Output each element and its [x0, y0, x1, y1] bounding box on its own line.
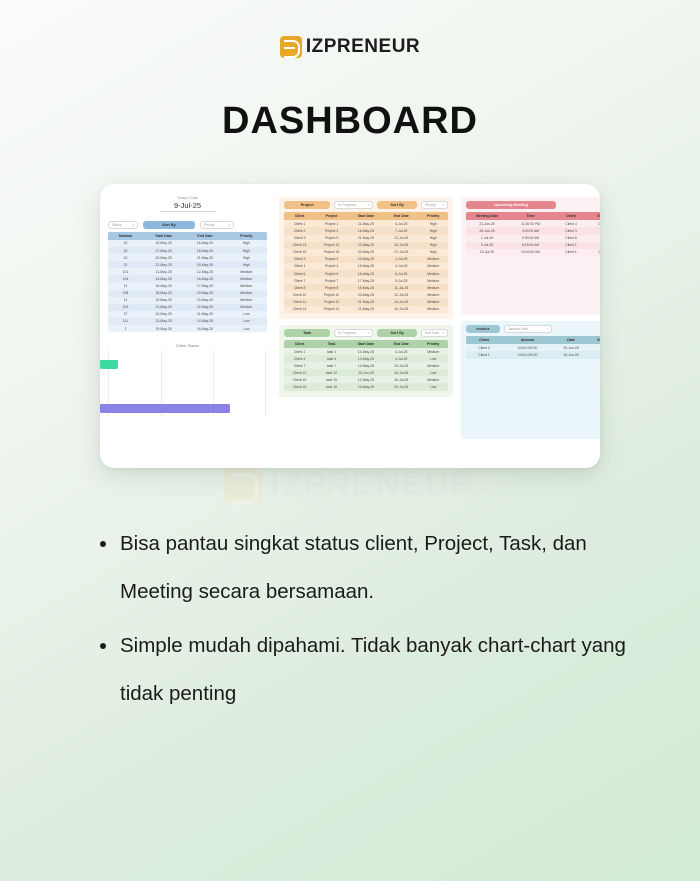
table-cell: High	[226, 261, 267, 268]
table-cell: 10-May-25	[143, 311, 184, 318]
table-cell: 19-May-25	[143, 297, 184, 304]
table-cell: Project 14	[315, 306, 348, 313]
table-cell: Medium	[226, 297, 267, 304]
table-cell: Project 15	[315, 249, 348, 256]
table-cell: 3,000,000.00	[502, 344, 553, 351]
table-cell: Low	[226, 311, 267, 318]
table-cell: 18-May-25	[143, 290, 184, 297]
table-cell: 22-May-25	[348, 242, 384, 249]
subtask-table-wrap: SubtaskStart DateEnd DatePriority 1515-M…	[108, 232, 267, 333]
task-table: ClientTaskStart DateEnd DatePriority Cli…	[284, 340, 448, 391]
column-header: Meeting Date	[466, 212, 508, 220]
column-header: Time	[508, 212, 553, 220]
table-row: Client 12task 1220-Jun-2516-Jul-25Low	[284, 369, 448, 376]
watermark-logo-icon	[224, 466, 262, 504]
dashboard-preview: Today's Date 9-Jul-25 Status ▾ Sort By P…	[100, 184, 600, 468]
table-cell: 11-May-25	[143, 268, 184, 275]
table-cell: 24-Jul-25	[466, 249, 508, 256]
panel-meeting-invoice: Upcoming Meeting Meeting DateTimeClientS…	[457, 194, 600, 468]
chevron-down-icon: ▾	[546, 325, 548, 333]
table-cell: Medium	[418, 277, 448, 284]
meeting-filter-row: Upcoming Meeting	[466, 201, 595, 209]
table-cell: 26-Jun-25	[466, 227, 508, 234]
invoice-table-wrap: ClientAmountDateStatus Client 23,000,000…	[466, 336, 600, 359]
table-row: Client 7task 714-May-2510-Jul-25Medium	[284, 362, 448, 369]
table-cell: 15-May-25	[143, 325, 184, 332]
task-sort-field-dropdown[interactable]: End Date ▾	[421, 329, 448, 337]
table-cell: 104	[108, 275, 143, 282]
invoice-table: ClientAmountDateStatus Client 23,000,000…	[466, 336, 600, 359]
table-cell: Client 4	[284, 355, 315, 362]
column-header: Client	[466, 336, 502, 344]
table-cell: Medium	[418, 284, 448, 291]
table-cell: Client 2	[466, 344, 502, 351]
table-header-row: ClientAmountDateStatus	[466, 336, 600, 344]
table-cell: 22-May-25	[143, 261, 184, 268]
project-sort-button[interactable]: Sort By	[377, 201, 417, 209]
table-row: Client 1task 114-May-254-Jul-25Medium	[284, 348, 448, 355]
task-table-body: Client 1task 114-May-254-Jul-25MediumCli…	[284, 348, 448, 391]
table-cell: 20-Jun-25	[348, 369, 384, 376]
table-cell: 111	[108, 318, 143, 325]
table-cell: 21-May-25	[184, 254, 225, 261]
table-cell: Client 10	[284, 291, 315, 298]
table-cell: Client 4	[284, 263, 315, 270]
table-cell: 19-May-25	[348, 284, 384, 291]
table-cell	[589, 227, 600, 234]
table-cell: Client 15	[284, 249, 315, 256]
table-cell	[589, 344, 600, 351]
table-row: 2020-May-2521-May-25High	[108, 254, 267, 261]
meeting-section: Upcoming Meeting Meeting DateTimeClientS…	[461, 197, 600, 315]
table-cell: task 1	[315, 348, 348, 355]
invoice-section: Invoice January Paid ▾ ClientAmountDateS…	[461, 321, 600, 439]
table-row: Client 23,000,000.0020-Jun-25	[466, 344, 600, 351]
subtask-table-body: 1515-May-2516-May-25High1817-May-2518-Ma…	[108, 240, 267, 332]
table-row: Client 6Project 616-May-256-Jul-25Medium	[284, 270, 448, 277]
table-cell: Low	[226, 318, 267, 325]
table-cell: Done	[589, 249, 600, 256]
table-cell: 22-May-25	[184, 304, 225, 311]
table-cell: 17-May-25	[184, 282, 225, 289]
table-cell: 4-Jul-25	[384, 220, 418, 227]
invoice-table-header: ClientAmountDateStatus	[466, 336, 600, 344]
table-cell: 16-Jul-25	[384, 242, 418, 249]
table-row: Client 1Project 111-May-254-Jul-25High	[284, 220, 448, 227]
task-filter-row: Task In Progress ▾ Sort By End Date ▾	[284, 329, 448, 337]
list-item: Bisa pantau singkat status client, Proje…	[92, 520, 632, 616]
table-row: Client 16task 1614-May-2520-Jul-25Low	[284, 383, 448, 390]
table-row: 10421-May-2522-May-25Medium	[108, 304, 267, 311]
table-row: Client 15Project 1520-May-2517-Jul-25Hig…	[284, 249, 448, 256]
table-cell: 16-May-25	[184, 325, 225, 332]
column-header: End Date	[384, 340, 418, 348]
table-cell: High	[418, 242, 448, 249]
table-cell: Client 12	[284, 369, 315, 376]
table-cell: High	[418, 227, 448, 234]
table-cell: 4-Jul-25	[384, 263, 418, 270]
table-cell: 2,000,000.00	[502, 351, 553, 358]
table-row: Client 11Project 1121-May-2514-Jul-25Med…	[284, 298, 448, 305]
column-header: Status	[589, 336, 600, 344]
table-header-row: Meeting DateTimeClientStatus	[466, 212, 600, 220]
subtask-table-header: SubtaskStart DateEnd DatePriority	[108, 232, 267, 240]
table-cell: 6-Jul-25	[384, 270, 418, 277]
table-row: Client 4task 410-May-254-Jul-25Low	[284, 355, 448, 362]
table-cell: task 15	[315, 376, 348, 383]
table-cell: 21-May-25	[348, 298, 384, 305]
table-cell: 16-Jul-25	[384, 376, 418, 383]
chevron-down-icon: ▾	[368, 201, 370, 209]
table-cell: 16-Jul-25	[384, 306, 418, 313]
sort-by-button[interactable]: Sort By	[143, 221, 195, 229]
table-row: 21-Jun-2511:30:00 PMClient 4Done	[466, 220, 600, 227]
table-header-row: ClientProjectStart DateEnd DatePriority	[284, 212, 448, 220]
table-row: 2222-May-2524-May-25High	[108, 261, 267, 268]
table-row: Client 3Project 314-May-251-Jul-25Medium	[284, 256, 448, 263]
table-cell: 20	[108, 254, 143, 261]
column-header: Subtask	[108, 232, 143, 240]
meeting-table: Meeting DateTimeClientStatus 21-Jun-2511…	[466, 212, 600, 256]
table-cell: Project 9	[315, 235, 348, 242]
table-cell: 13-May-25	[143, 318, 184, 325]
invoice-filter-row: Invoice January Paid ▾	[466, 325, 595, 333]
table-row: 9-Jul-258:15:00 AMClient 1	[466, 242, 600, 249]
table-row: 26-Jun-254:00:00 AMClient 3	[466, 227, 600, 234]
task-status-dropdown[interactable]: In Progress ▾	[334, 329, 373, 337]
table-row: Client 9Project 921-May-2512-Jul-25High	[284, 235, 448, 242]
table-cell: Project 10	[315, 291, 348, 298]
table-row: Client 10Project 1020-May-2512-Jul-25Med…	[284, 291, 448, 298]
todays-date-label: Today's Date	[160, 196, 216, 200]
table-cell: 21-May-25	[348, 235, 384, 242]
table-cell: 1-Jul-25	[466, 235, 508, 242]
chevron-down-icon: ▾	[132, 221, 134, 229]
table-cell: 27	[108, 311, 143, 318]
table-cell: task 4	[315, 355, 348, 362]
table-cell: 14-Jul-25	[384, 298, 418, 305]
column-header: Client	[284, 340, 315, 348]
table-cell: Medium	[418, 306, 448, 313]
table-cell: 17-May-25	[348, 277, 384, 284]
column-header: Amount	[502, 336, 553, 344]
table-cell: Client 9	[284, 235, 315, 242]
column-header: Task	[315, 340, 348, 348]
table-cell: Project 13	[315, 242, 348, 249]
table-cell	[589, 235, 600, 242]
table-row: Client 13Project 1322-May-2516-Jul-25Hig…	[284, 242, 448, 249]
table-cell: 14-May-25	[184, 318, 225, 325]
watermark: IZPRENEUR	[0, 465, 700, 504]
table-cell: Client 15	[284, 376, 315, 383]
table-cell: Client 7	[284, 362, 315, 369]
column-header: Date	[553, 336, 589, 344]
panel-project-task: Project In Progress ▾ Sort By Priority ▾…	[275, 194, 457, 468]
table-cell: 4-Jul-25	[384, 348, 418, 355]
table-cell: Medium	[226, 282, 267, 289]
task-table-wrap: ClientTaskStart DateEnd DatePriority Cli…	[284, 340, 448, 391]
table-cell: task 12	[315, 369, 348, 376]
table-row: Client 12,000,000.0018-Jun-25	[466, 351, 600, 358]
column-header: Client	[553, 212, 589, 220]
task-sort-button[interactable]: Sort By	[377, 329, 417, 337]
table-cell: Client 14	[284, 306, 315, 313]
table-cell: 15	[108, 240, 143, 247]
invoice-table-body: Client 23,000,000.0020-Jun-25Client 12,0…	[466, 344, 600, 358]
table-cell: Medium	[418, 263, 448, 270]
table-cell: 10:00:00 AM	[508, 249, 553, 256]
table-cell: 20-May-25	[348, 291, 384, 298]
table-cell: 14-May-25	[143, 275, 184, 282]
upcoming-meeting-chip[interactable]: Upcoming Meeting	[466, 201, 556, 209]
todays-date-value: 9-Jul-25	[160, 201, 216, 210]
table-cell: 16-May-25	[184, 275, 225, 282]
table-cell: Low	[418, 369, 448, 376]
table-cell: 12-May-25	[348, 376, 384, 383]
table-cell: 16-Jul-25	[384, 369, 418, 376]
table-cell: 11-May-25	[184, 311, 225, 318]
table-row: 24-Jul-2510:00:00 AMClient 1Done	[466, 249, 600, 256]
meeting-table-wrap: Meeting DateTimeClientStatus 21-Jun-2511…	[466, 212, 600, 256]
table-cell: Medium	[418, 376, 448, 383]
invoice-chip[interactable]: Invoice	[466, 325, 500, 333]
chevron-down-icon: ▾	[368, 329, 370, 337]
table-row: 1119-May-2520-May-25Medium	[108, 297, 267, 304]
table-cell: task 7	[315, 362, 348, 369]
table-cell: Medium	[418, 298, 448, 305]
table-cell: Project 4	[315, 263, 348, 270]
table-cell: 9-Jul-25	[466, 242, 508, 249]
table-cell: Low	[226, 325, 267, 332]
status-dropdown[interactable]: Status ▾	[108, 221, 138, 229]
table-cell: 19-May-25	[184, 290, 225, 297]
table-cell: Client 7	[284, 277, 315, 284]
task-chip[interactable]: Task	[284, 329, 330, 337]
table-cell: Client 11	[284, 298, 315, 305]
project-table-body: Client 1Project 111-May-254-Jul-25HighCl…	[284, 220, 448, 312]
table-cell: Client 2	[284, 227, 315, 234]
table-cell: 21-Jun-25	[466, 220, 508, 227]
table-cell: 14-May-25	[348, 383, 384, 390]
table-cell: 18-Jun-25	[553, 351, 589, 358]
table-row: 10111-May-2512-May-25Medium	[108, 268, 267, 275]
table-row: 215-May-2516-May-25Low	[108, 325, 267, 332]
table-cell: 14-May-25	[348, 362, 384, 369]
table-cell: 101	[108, 268, 143, 275]
table-cell: Medium	[226, 304, 267, 311]
table-cell: Medium	[418, 291, 448, 298]
table-row: Client 8Project 819-May-2511-Jul-25Mediu…	[284, 284, 448, 291]
column-header: Start Date	[143, 232, 184, 240]
table-cell: 10-Jul-25	[384, 362, 418, 369]
column-header: Start Date	[348, 340, 384, 348]
table-cell: Low	[418, 355, 448, 362]
column-header: Priority	[226, 232, 267, 240]
table-cell: 14-May-25	[348, 256, 384, 263]
page-title: DASHBOARD	[0, 100, 700, 143]
table-cell: 9-Jul-25	[384, 277, 418, 284]
column-header: End Date	[184, 232, 225, 240]
table-cell: 16-May-25	[184, 240, 225, 247]
project-section: Project In Progress ▾ Sort By Priority ▾…	[279, 197, 453, 319]
table-cell: 8:15:00 AM	[508, 242, 553, 249]
table-cell: 18	[108, 247, 143, 254]
table-row: 10818-May-2519-May-25Medium	[108, 290, 267, 297]
table-cell: Client 3	[284, 256, 315, 263]
table-cell: 20-Jun-25	[553, 344, 589, 351]
table-cell: Done	[589, 220, 600, 227]
meeting-table-header: Meeting DateTimeClientStatus	[466, 212, 600, 220]
project-table: ClientProjectStart DateEnd DatePriority …	[284, 212, 448, 313]
table-cell: Low	[418, 383, 448, 390]
table-cell: 12-Jul-25	[384, 235, 418, 242]
table-cell: 20-Jul-25	[384, 383, 418, 390]
table-cell: High	[418, 249, 448, 256]
table-cell: Client 8	[284, 284, 315, 291]
table-row: Client 14Project 1421-May-2516-Jul-25Med…	[284, 306, 448, 313]
table-cell: High	[226, 254, 267, 261]
table-cell: High	[226, 240, 267, 247]
table-row: 10414-May-2516-May-25Medium	[108, 275, 267, 282]
panel-subtask: Today's Date 9-Jul-25 Status ▾ Sort By P…	[100, 194, 275, 468]
b-logo-icon	[280, 36, 302, 58]
chevron-down-icon: ▾	[442, 329, 444, 337]
table-cell: 20-May-25	[143, 254, 184, 261]
dashboard-card: Today's Date 9-Jul-25 Status ▾ Sort By P…	[100, 184, 600, 468]
table-cell: 7-Jul-25	[384, 227, 418, 234]
table-cell: 4-Jul-25	[384, 355, 418, 362]
meeting-table-body: 21-Jun-2511:30:00 PMClient 4Done26-Jun-2…	[466, 220, 600, 255]
table-cell: 11:30:00 PM	[508, 220, 553, 227]
invoice-filter-dropdown[interactable]: January Paid ▾	[504, 325, 552, 333]
table-cell: 16-May-25	[143, 282, 184, 289]
table-cell	[589, 242, 600, 249]
project-table-header: ClientProjectStart DateEnd DatePriority	[284, 212, 448, 220]
table-cell: 11	[108, 297, 143, 304]
table-cell: Project 2	[315, 227, 348, 234]
table-cell: 11	[108, 282, 143, 289]
table-header-row: ClientTaskStart DateEnd DatePriority	[284, 340, 448, 348]
table-row: 1116-May-2517-May-25Medium	[108, 282, 267, 289]
table-cell: Client 6	[553, 235, 589, 242]
table-cell: Project 1	[315, 220, 348, 227]
table-cell: 21-May-25	[143, 304, 184, 311]
list-item: Simple mudah dipahami. Tidak banyak char…	[92, 622, 632, 718]
table-cell: Medium	[418, 362, 448, 369]
priority-dropdown[interactable]: Priority ▾	[200, 221, 234, 229]
table-cell: High	[418, 220, 448, 227]
subtask-table: SubtaskStart DateEnd DatePriority 1515-M…	[108, 232, 267, 333]
project-status-dropdown[interactable]: In Progress ▾	[334, 201, 373, 209]
table-cell: Project 6	[315, 270, 348, 277]
table-cell: 12-May-25	[184, 268, 225, 275]
table-cell: 22	[108, 261, 143, 268]
table-cell: Project 3	[315, 256, 348, 263]
table-cell: Client 1	[466, 351, 502, 358]
task-section: Task In Progress ▾ Sort By End Date ▾ Cl…	[279, 325, 453, 397]
column-header: Client	[284, 212, 315, 220]
chevron-down-icon: ▾	[228, 221, 230, 229]
table-cell: Medium	[226, 275, 267, 282]
column-header: Status	[589, 212, 600, 220]
table-row: 11113-May-2514-May-25Low	[108, 318, 267, 325]
table-row: Client 15task 1512-May-2516-Jul-25Medium	[284, 376, 448, 383]
table-cell: 20-May-25	[184, 297, 225, 304]
table-cell: 11-Jul-25	[384, 284, 418, 291]
table-cell: 18-May-25	[184, 247, 225, 254]
table-cell: 17-May-25	[143, 247, 184, 254]
subtask-filter-row: Status ▾ Sort By Priority ▾	[108, 221, 267, 229]
table-cell: Client 16	[284, 383, 315, 390]
table-row: Client 2Project 216-May-257-Jul-25High	[284, 227, 448, 234]
project-sort-field-dropdown[interactable]: Priority ▾	[421, 201, 448, 209]
table-cell: 104	[108, 304, 143, 311]
table-cell: 20-May-25	[348, 249, 384, 256]
column-header: Priority	[418, 212, 448, 220]
table-cell: Client 13	[284, 242, 315, 249]
brand-name: IZPRENEUR	[306, 36, 420, 58]
table-cell: 21-May-25	[348, 306, 384, 313]
table-row: 2710-May-2511-May-25Low	[108, 311, 267, 318]
chart-bar-active	[100, 360, 118, 369]
table-cell: Medium	[226, 290, 267, 297]
table-cell: 17-Jul-25	[384, 249, 418, 256]
table-cell: 11-May-25	[348, 220, 384, 227]
client-status-chart	[108, 350, 267, 416]
column-header: Project	[315, 212, 348, 220]
task-table-header: ClientTaskStart DateEnd DatePriority	[284, 340, 448, 348]
table-cell: Project 11	[315, 298, 348, 305]
table-cell: 108	[108, 290, 143, 297]
table-cell: Client 1	[284, 220, 315, 227]
table-header-row: SubtaskStart DateEnd DatePriority	[108, 232, 267, 240]
table-cell: task 16	[315, 383, 348, 390]
client-status-chart-title: Client Status	[108, 344, 267, 348]
project-chip[interactable]: Project	[284, 201, 330, 209]
table-cell: 12-Jul-25	[384, 291, 418, 298]
table-cell	[589, 351, 600, 358]
table-cell: 15-May-25	[348, 263, 384, 270]
column-header: Priority	[418, 340, 448, 348]
bullet-list: Bisa pantau singkat status client, Proje…	[92, 520, 632, 718]
table-cell: Client 6	[284, 270, 315, 277]
project-table-wrap: ClientProjectStart DateEnd DatePriority …	[284, 212, 448, 313]
table-cell: 14-May-25	[348, 348, 384, 355]
table-cell: 24-May-25	[184, 261, 225, 268]
table-cell: High	[226, 247, 267, 254]
watermark-text: IZPRENEUR	[270, 465, 475, 504]
column-header: End Date	[384, 212, 418, 220]
table-cell: 1-Jul-25	[384, 256, 418, 263]
table-cell: Project 8	[315, 284, 348, 291]
table-cell: 4:00:00 AM	[508, 227, 553, 234]
table-row: Client 4Project 415-May-254-Jul-25Medium	[284, 263, 448, 270]
table-cell: Client 1	[553, 242, 589, 249]
table-row: 1515-May-2516-May-25High	[108, 240, 267, 247]
table-cell: High	[418, 235, 448, 242]
table-cell: 15-May-25	[143, 240, 184, 247]
table-cell: 16-May-25	[348, 270, 384, 277]
table-cell: Project 7	[315, 277, 348, 284]
table-row: 1817-May-2518-May-25High	[108, 247, 267, 254]
table-cell: 9:30:00 AM	[508, 235, 553, 242]
table-row: 1-Jul-259:30:00 AMClient 6	[466, 235, 600, 242]
table-cell: 10-May-25	[348, 355, 384, 362]
todays-date: Today's Date 9-Jul-25	[160, 196, 216, 212]
project-filter-row: Project In Progress ▾ Sort By Priority ▾	[284, 201, 448, 209]
column-header: Start Date	[348, 212, 384, 220]
brand-logo: IZPRENEUR	[0, 0, 700, 58]
